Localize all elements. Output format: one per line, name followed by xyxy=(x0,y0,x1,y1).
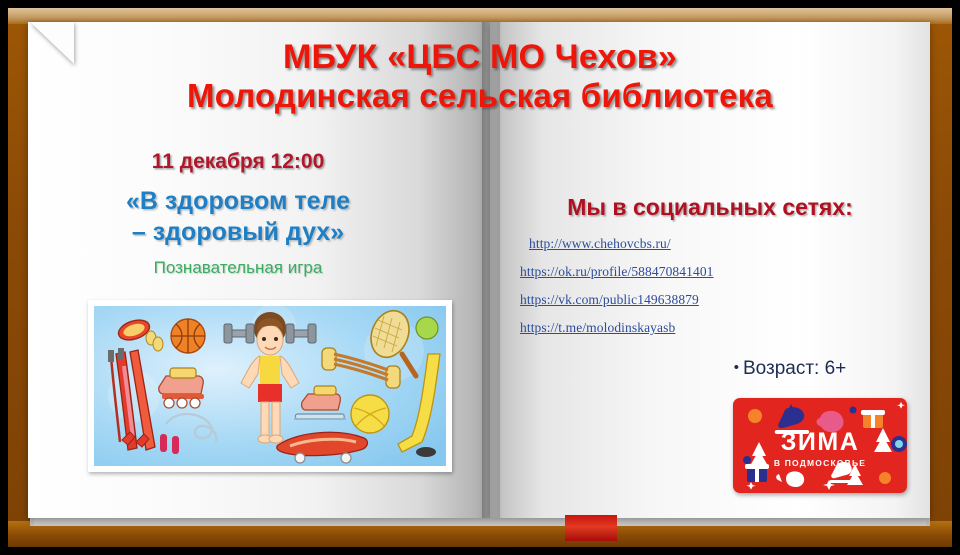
event-title-line-2: – здоровый дух» xyxy=(132,218,344,246)
age-label: Возраст: 6+ xyxy=(743,358,846,379)
link-telegram[interactable]: https://t.me/molodinskayasb xyxy=(520,320,920,336)
basketball-icon xyxy=(171,319,205,353)
zima-promo-card[interactable]: ЗИМА В ПОДМОСКОВЬЕ xyxy=(733,398,907,493)
link-vk[interactable]: https://vk.com/public149638879 xyxy=(520,292,920,308)
age-restriction: •Возраст: 6+ xyxy=(660,358,920,380)
social-networks-heading: Мы в социальных сетях: xyxy=(500,194,920,221)
header-line-1: МБУК «ЦБС МО Чехов» xyxy=(283,38,677,76)
page-title: МБУК «ЦБС МО Чехов» Молодинская сельская… xyxy=(0,38,960,116)
social-links-list: http://www.chehovcbs.ru/ https://ok.ru/p… xyxy=(520,236,920,348)
event-kind: Познавательная игра xyxy=(28,258,448,278)
bookmark-ribbon-icon xyxy=(565,515,617,541)
link-ok[interactable]: https://ok.ru/profile/588470841401 xyxy=(520,264,920,280)
sports-illustration xyxy=(88,300,452,472)
link-site[interactable]: http://www.chehovcbs.ru/ xyxy=(529,236,920,252)
bullet-icon: • xyxy=(734,359,739,376)
zima-card-subtitle: В ПОДМОСКОВЬЕ xyxy=(733,458,907,468)
volleyball-icon xyxy=(351,395,389,433)
zima-card-title: ЗИМА xyxy=(733,428,907,457)
header-line-2: Молодинская сельская библиотека xyxy=(0,77,960,115)
event-date: 11 декабря 12:00 xyxy=(28,150,448,174)
event-title: «В здоровом теле – здоровый дух» xyxy=(28,186,448,247)
event-title-line-1: «В здоровом теле xyxy=(126,187,350,215)
poster-canvas: МБУК «ЦБС МО Чехов» Молодинская сельская… xyxy=(0,0,960,555)
sports-illustration-svg xyxy=(94,306,446,466)
